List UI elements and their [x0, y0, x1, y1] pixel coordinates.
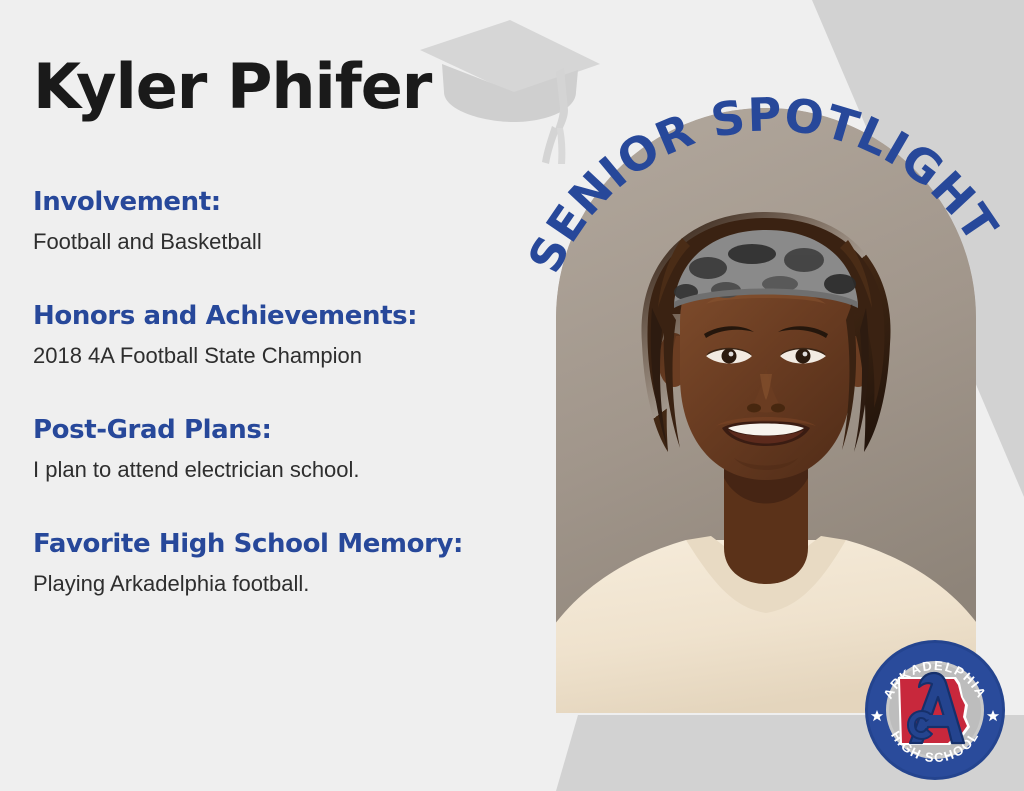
- student-portrait-illustration: [556, 108, 976, 713]
- info-block-memory: Favorite High School Memory: Playing Ark…: [33, 528, 543, 599]
- section-heading-involvement: Involvement:: [33, 186, 543, 218]
- section-heading-memory: Favorite High School Memory:: [33, 528, 543, 560]
- info-block-honors: Honors and Achievements: 2018 4A Footbal…: [33, 300, 543, 371]
- section-body-honors: 2018 4A Football State Champion: [33, 341, 543, 371]
- section-body-post-grad: I plan to attend electrician school.: [33, 455, 543, 485]
- section-heading-post-grad: Post-Grad Plans:: [33, 414, 543, 446]
- section-body-involvement: Football and Basketball: [33, 227, 543, 257]
- student-photo: [556, 108, 976, 713]
- senior-spotlight-poster: Kyler Phifer Involvement: Football and B…: [0, 0, 1024, 791]
- school-logo: ARKADELPHIA HIGH SCHOOL: [864, 639, 1006, 781]
- info-block-post-grad: Post-Grad Plans: I plan to attend electr…: [33, 414, 543, 485]
- page-title: Kyler Phifer: [33, 52, 431, 122]
- info-block-involvement: Involvement: Football and Basketball: [33, 186, 543, 257]
- section-heading-honors: Honors and Achievements:: [33, 300, 543, 332]
- info-sections: Involvement: Football and Basketball Hon…: [33, 186, 543, 599]
- section-body-memory: Playing Arkadelphia football.: [33, 569, 543, 599]
